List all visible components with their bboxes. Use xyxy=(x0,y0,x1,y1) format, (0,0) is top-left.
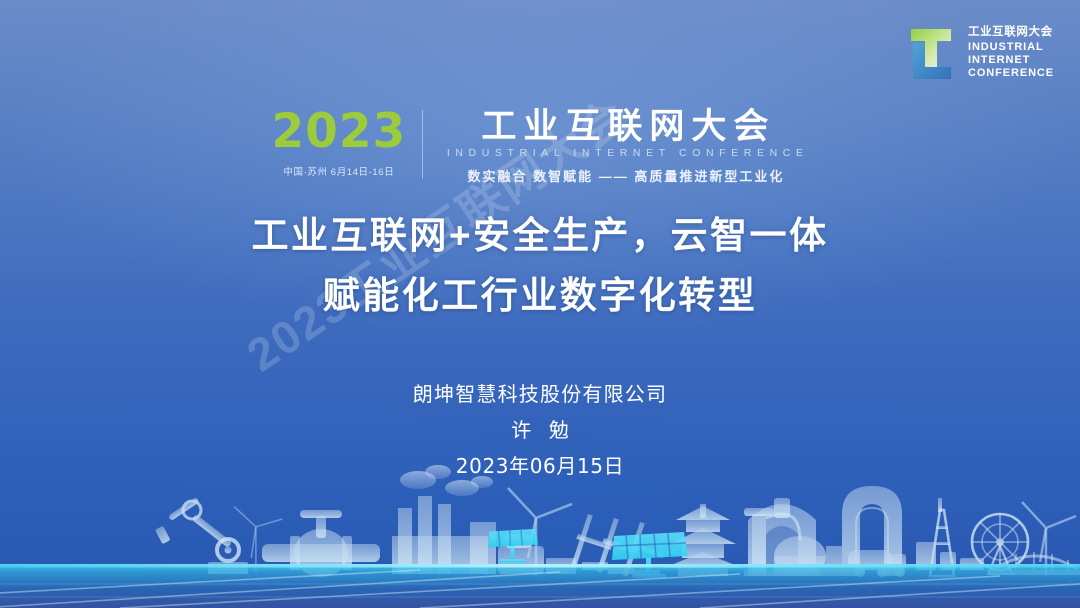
solar-panel-icon xyxy=(488,529,688,578)
gate-of-the-orient-icon xyxy=(842,486,902,576)
presentation-slide: 工业互联网大会 INDUSTRIAL INTERNET CONFERENCE 2… xyxy=(0,0,1080,608)
slide-title-line-1: 工业互联网+安全生产，云智一体 xyxy=(0,206,1080,266)
presenter-name: 许 勉 xyxy=(0,414,1080,450)
ground-road-illustration xyxy=(0,564,1080,608)
wind-turbine-icon xyxy=(234,507,282,573)
oil-pumpjack-icon xyxy=(571,514,665,578)
conference-logo-cn: 工业互联网大会 xyxy=(968,26,1054,40)
wind-turbine-icon xyxy=(1022,502,1076,576)
road-lane-lines xyxy=(0,570,1080,608)
banner-year-subtitle: 中国·苏州 6月14日-16日 xyxy=(283,164,394,178)
tanker-truck-icon xyxy=(848,542,984,577)
ferris-wheel-icon xyxy=(972,514,1028,574)
tower-icon xyxy=(930,498,954,576)
banner-year: 2023 xyxy=(271,108,406,155)
banner-title-group: 工业互联网大会 INDUSTRIAL INTERNET CONFERENCE 数… xyxy=(423,108,808,185)
conference-logo-en-line2: INTERNET xyxy=(968,54,1054,67)
company-name: 朗坤智慧科技股份有限公司 xyxy=(0,378,1080,414)
banner-year-group: 2023 中国·苏州 6月14日-16日 xyxy=(271,108,422,185)
bridge-icon xyxy=(988,552,1080,575)
factory-icon xyxy=(392,496,576,574)
conference-logo-text: 工业互联网大会 INDUSTRIAL INTERNET CONFERENCE xyxy=(968,26,1054,79)
robot-arm-icon xyxy=(155,497,248,574)
conference-logo-mark xyxy=(905,27,957,79)
pipeline-valve-icon xyxy=(262,510,380,577)
conference-logo-en-line1: INDUSTRIAL xyxy=(968,41,1054,54)
arch-building-icon xyxy=(744,498,822,576)
banner-conference-en: INDUSTRIAL INTERNET CONFERENCE xyxy=(441,147,808,159)
slide-title: 工业互联网+安全生产，云智一体 赋能化工行业数字化转型 xyxy=(0,206,1080,326)
banner-slogan: 数实融合 数智赋能 —— 高质量推进新型工业化 xyxy=(465,166,784,185)
conference-logo-en-line3: CONFERENCE xyxy=(968,67,1054,80)
banner-conference-cn: 工业互联网大会 xyxy=(474,108,775,145)
slide-title-line-2: 赋能化工行业数字化转型 xyxy=(0,266,1080,326)
conference-logo: 工业互联网大会 INDUSTRIAL INTERNET CONFERENCE xyxy=(905,26,1054,79)
wind-turbine-icon xyxy=(508,488,572,576)
pagoda-icon xyxy=(664,504,742,576)
conference-banner: 2023 中国·苏州 6月14日-16日 工业互联网大会 INDUSTRIAL … xyxy=(0,108,1080,185)
presentation-date: 2023年06月15日 xyxy=(0,449,1080,485)
presenter-block: 朗坤智慧科技股份有限公司 许 勉 2023年06月15日 xyxy=(0,378,1080,485)
chemical-tank-icon xyxy=(744,508,842,576)
